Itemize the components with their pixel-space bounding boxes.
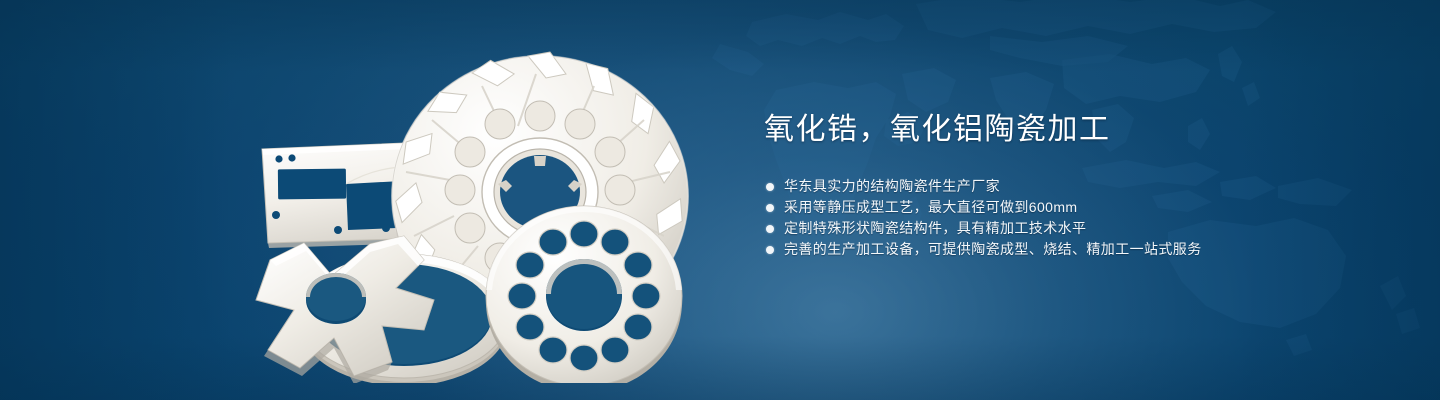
hero-banner: 氧化锆，氧化铝陶瓷加工 华东具实力的结构陶瓷件生产厂家 采用等静压成型工艺，最大… [0,0,1440,400]
page-title: 氧化锆，氧化铝陶瓷加工 [764,110,1384,150]
banner-copy: 氧化锆，氧化铝陶瓷加工 华东具实力的结构陶瓷件生产厂家 采用等静压成型工艺，最大… [764,110,1384,260]
feature-text: 华东具实力的结构陶瓷件生产厂家 [784,176,1000,197]
list-item: 华东具实力的结构陶瓷件生产厂家 [766,176,1384,197]
list-item: 定制特殊形状陶瓷结构件，具有精加工技术水平 [766,218,1384,239]
feature-text: 采用等静压成型工艺，最大直径可做到600mm [784,197,1077,218]
ceramic-parts-photo [228,38,708,383]
list-item: 采用等静压成型工艺，最大直径可做到600mm [766,197,1384,218]
feature-text: 定制特殊形状陶瓷结构件，具有精加工技术水平 [784,218,1086,239]
list-item: 完善的生产加工设备，可提供陶瓷成型、烧结、精加工一站式服务 [766,239,1384,260]
bullet-circle-icon [766,225,774,233]
bullet-circle-icon [766,204,774,212]
bullet-circle-icon [766,246,774,254]
feature-list: 华东具实力的结构陶瓷件生产厂家 采用等静压成型工艺，最大直径可做到600mm 定… [766,176,1384,260]
ceramic-perforated-disc [486,206,682,383]
bullet-circle-icon [766,183,774,191]
feature-text: 完善的生产加工设备，可提供陶瓷成型、烧结、精加工一站式服务 [784,239,1202,260]
